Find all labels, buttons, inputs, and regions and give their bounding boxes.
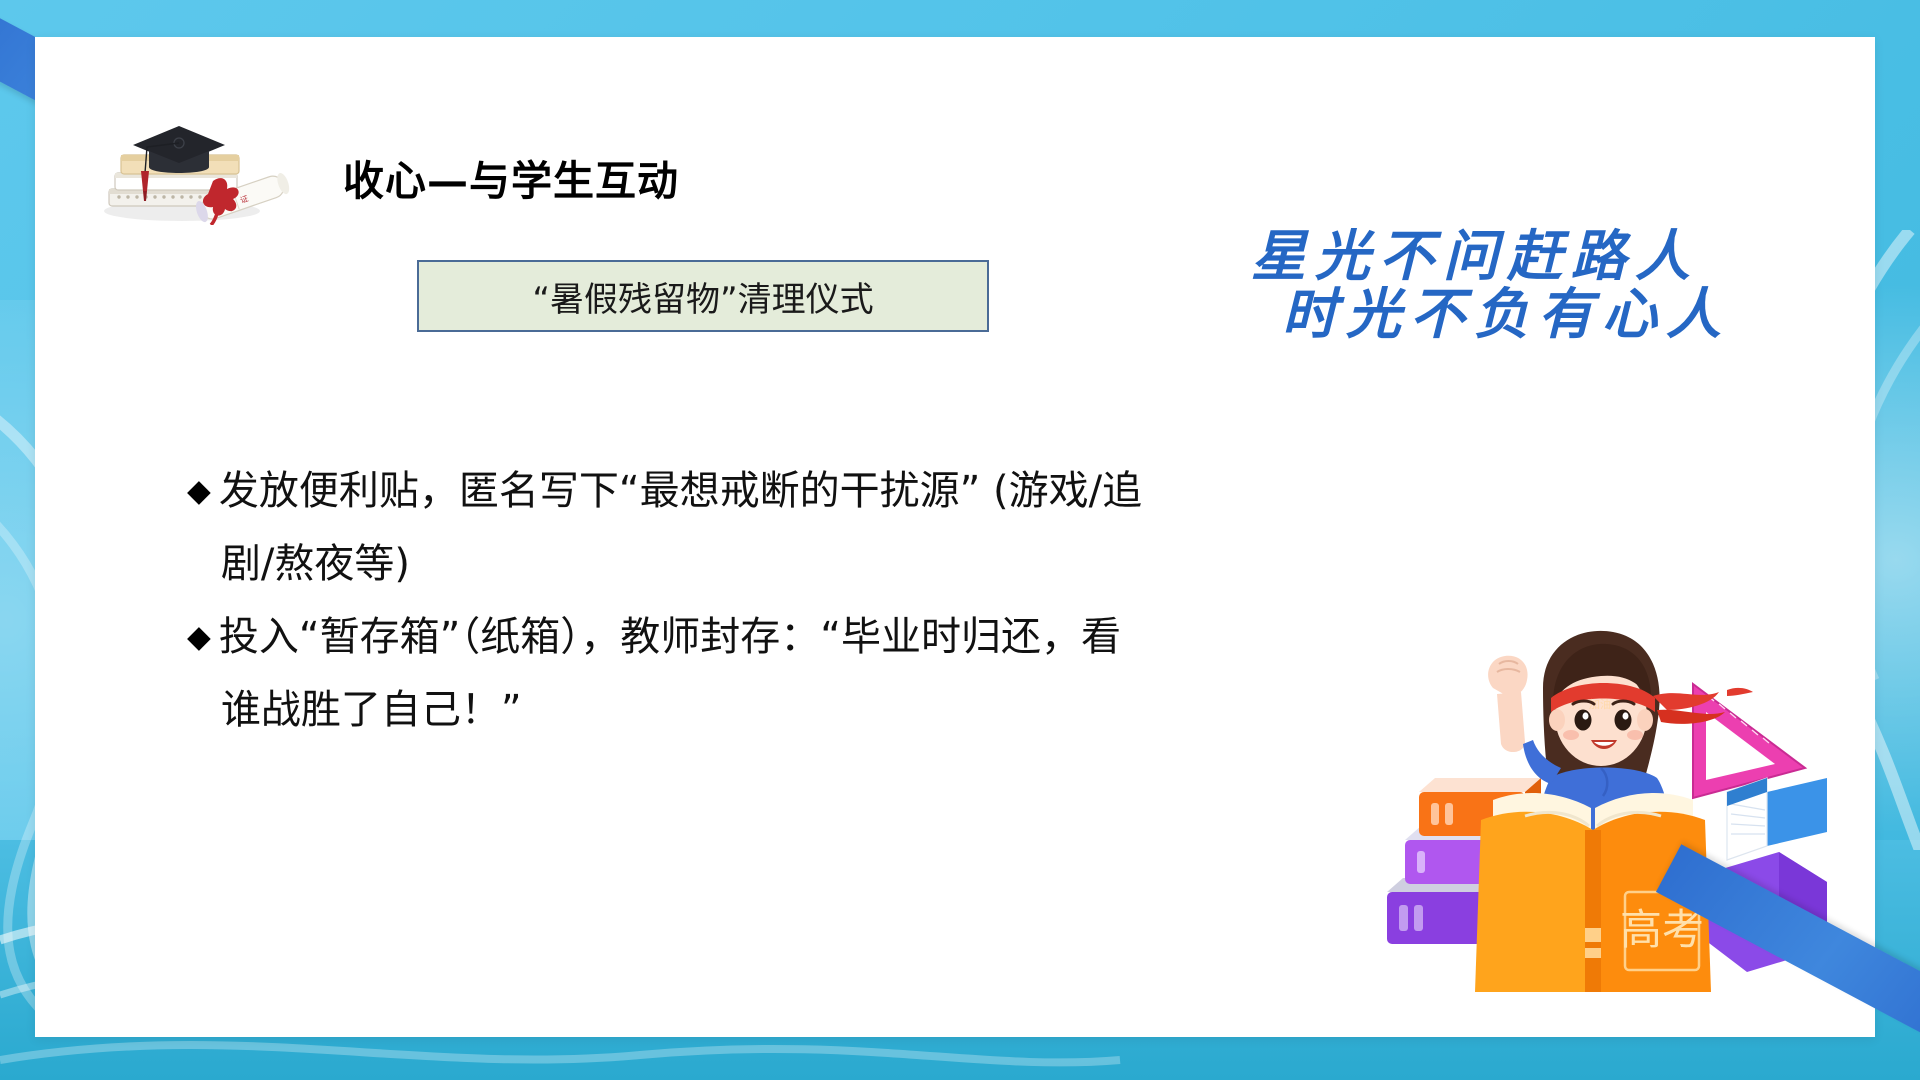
triangle-ruler-icon [1693,684,1805,798]
graduation-cap-illustration: 证 [87,85,297,225]
diamond-bullet-icon: ◆ [187,601,211,674]
bullet-item: ◆ 投入“暂存箱”（纸箱），教师封存：“毕业时归还，看 谁战胜了自己！” [187,601,1487,747]
calligraphy-slogan: 星光不问赶路人 时光不负有心人 [1155,227,1795,343]
calligraphy-line-2: 时光不负有心人 [1155,285,1795,343]
bullet-line: 发放便利贴，匿名写下“最想戒断的干扰源” (游戏/追 [219,455,1487,528]
bullet-item: ◆ 发放便利贴，匿名写下“最想戒断的干扰源” (游戏/追 剧/熬夜等) [187,455,1487,601]
diamond-bullet-icon: ◆ [187,455,211,528]
bullet-body: 投入“暂存箱”（纸箱），教师封存：“毕业时归还，看 谁战胜了自己！” [219,601,1487,747]
callout-text: “暑假残留物”清理仪式 [532,272,873,321]
slide-canvas: 证 收心—与学生互动 “暑假残留物”清理仪式 星光不问赶路人 时光不负有心人 ◆… [0,0,1920,1080]
bullet-line: 剧/熬夜等) [219,528,1487,601]
book-cover-label: 高考 [1620,905,1704,954]
bullet-line: 谁战胜了自己！” [219,674,1487,747]
bullet-body: 发放便利贴，匿名写下“最想戒断的干扰源” (游戏/追 剧/熬夜等) [219,455,1487,601]
callout-box: “暑假残留物”清理仪式 [417,260,989,332]
bullet-list: ◆ 发放便利贴，匿名写下“最想戒断的干扰源” (游戏/追 剧/熬夜等) ◆ 投入… [187,455,1487,747]
bullet-line: 投入“暂存箱”（纸箱），教师封存：“毕业时归还，看 [219,601,1487,674]
content-card: 证 收心—与学生互动 “暑假残留物”清理仪式 星光不问赶路人 时光不负有心人 ◆… [35,37,1875,1037]
book-right-blue [1727,778,1827,860]
page-title: 收心—与学生互动 [343,147,679,207]
calligraphy-line-1: 星光不问赶路人 [1155,227,1795,285]
